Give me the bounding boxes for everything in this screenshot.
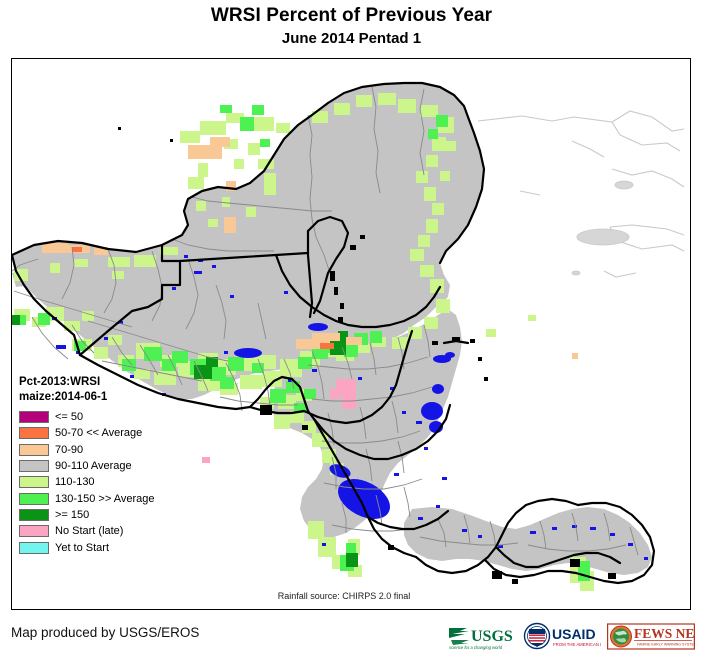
legend-item: <= 50 — [19, 409, 204, 425]
map-canvas[interactable]: Pct-2013:WRSI maize:2014-06-1 <= 5050-70… — [11, 58, 691, 610]
legend-label: 110-130 — [55, 476, 95, 488]
usaid-wordmark: USAID — [552, 626, 596, 642]
logo-bar: USGS science for a changing world USAID … — [447, 622, 695, 652]
legend-title-line1: Pct-2013:WRSI — [19, 375, 204, 390]
legend-item: 90-110 Average — [19, 458, 204, 474]
legend-item: Yet to Start — [19, 539, 204, 555]
fewsnet-tagline: FAMINE EARLY WARNING SYSTEMS NETWORK — [637, 643, 695, 647]
usgs-tagline: science for a changing world — [449, 645, 503, 650]
legend-item: 50-70 << Average — [19, 425, 204, 441]
legend-rows: <= 5050-70 << Average70-9090-110 Average… — [19, 409, 204, 556]
legend-swatch — [19, 493, 49, 505]
title-block: WRSI Percent of Previous Year June 2014 … — [0, 0, 703, 48]
fewsnet-wordmark: FEWS NET — [634, 626, 695, 641]
usaid-tagline: FROM THE AMERICAN PEOPLE — [553, 642, 601, 647]
legend-swatch — [19, 460, 49, 472]
usaid-logo[interactable]: USAID FROM THE AMERICAN PEOPLE — [523, 622, 601, 652]
legend-label: No Start (late) — [55, 525, 123, 537]
rainfall-source-caption: Rainfall source: CHIRPS 2.0 final — [12, 591, 676, 601]
legend-swatch — [19, 542, 49, 554]
map-legend: Pct-2013:WRSI maize:2014-06-1 <= 5050-70… — [19, 375, 204, 556]
usgs-wave-mark — [449, 628, 469, 645]
page-subtitle: June 2014 Pentad 1 — [0, 30, 703, 48]
producer-credit: Map produced by USGS/EROS — [11, 625, 199, 640]
legend-swatch — [19, 525, 49, 537]
fewsnet-logo[interactable]: FEWS NET FAMINE EARLY WARNING SYSTEMS NE… — [607, 622, 695, 652]
legend-label: >= 150 — [55, 509, 89, 521]
usgs-wordmark: USGS — [471, 628, 513, 645]
legend-swatch — [19, 427, 49, 439]
legend-label: 90-110 Average — [55, 460, 132, 472]
legend-item: 130-150 >> Average — [19, 490, 204, 506]
legend-item: >= 150 — [19, 507, 204, 523]
legend-swatch — [19, 411, 49, 423]
legend-title-line2: maize:2014-06-1 — [19, 390, 204, 405]
usgs-logo[interactable]: USGS science for a changing world — [447, 622, 517, 652]
fewsnet-globe-mark — [611, 626, 632, 647]
legend-label: 70-90 — [55, 444, 83, 456]
legend-item: 70-90 — [19, 442, 204, 458]
legend-label: Yet to Start — [55, 542, 109, 554]
legend-label: <= 50 — [55, 411, 83, 423]
legend-swatch — [19, 444, 49, 456]
legend-label: 130-150 >> Average — [55, 493, 155, 505]
legend-item: No Start (late) — [19, 523, 204, 539]
legend-item: 110-130 — [19, 474, 204, 490]
page-title: WRSI Percent of Previous Year — [0, 5, 703, 27]
legend-label: 50-70 << Average — [55, 427, 142, 439]
usaid-seal — [525, 624, 550, 649]
legend-swatch — [19, 509, 49, 521]
legend-swatch — [19, 476, 49, 488]
